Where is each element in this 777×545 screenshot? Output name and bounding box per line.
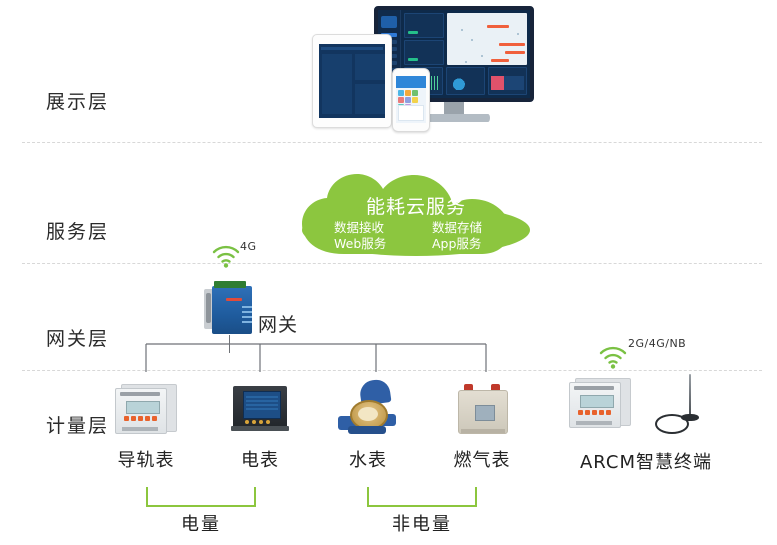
gateway-device-icon <box>204 281 256 335</box>
group-label-electric: 电量 <box>146 510 256 536</box>
architecture-diagram: 展示层 服务层 网关层 计量层 <box>0 0 777 545</box>
meter-panel-electric: 电表 <box>212 378 308 472</box>
cloud-service-item: Web服务 <box>334 236 386 252</box>
wifi-signal-icon <box>598 345 628 369</box>
water-meter-icon <box>338 380 398 438</box>
antenna-icon <box>655 374 715 430</box>
tablet-device-icon <box>312 34 392 128</box>
cloud-service-item: 数据接收 <box>334 220 386 236</box>
smartphone-device-icon <box>392 68 430 132</box>
terminal-label: ARCM智慧终端 <box>571 448 721 474</box>
cloud-service-item: 数据存储 <box>432 220 482 236</box>
terminal-label-wrap: ARCM智慧终端 <box>571 448 721 474</box>
meter-label: 电表 <box>212 446 308 472</box>
meter-din-rail: 导轨表 <box>98 378 194 472</box>
terminal-network-tag: 2G/4G/NB <box>628 337 686 350</box>
divider-service-gateway <box>22 263 762 264</box>
meter-connector-tree <box>120 332 520 374</box>
group-label-non-electric: 非电量 <box>367 510 477 536</box>
meter-label: 燃气表 <box>434 446 530 472</box>
wifi-signal-icon <box>211 244 241 268</box>
cloud-services-left: 数据接收 Web服务 <box>334 220 386 252</box>
group-bracket-non-electric <box>367 487 477 507</box>
group-bracket-electric <box>146 487 256 507</box>
meter-label: 导轨表 <box>98 446 194 472</box>
gateway-network-tag: 4G <box>240 240 257 253</box>
panel-electric-meter-icon <box>233 386 287 432</box>
meter-gas: 燃气表 <box>434 378 530 472</box>
layer-label-service: 服务层 <box>46 217 166 244</box>
layer-label-display: 展示层 <box>46 87 166 114</box>
meter-label: 水表 <box>320 446 416 472</box>
gas-meter-icon <box>458 384 506 434</box>
divider-display-service <box>22 142 762 143</box>
din-rail-meter-icon <box>115 384 177 434</box>
cloud-title: 能耗云服务 <box>298 192 534 219</box>
cloud-services-right: 数据存储 App服务 <box>432 220 482 252</box>
arcm-terminal-icon <box>569 374 719 434</box>
cloud-service-shape: 能耗云服务 数据接收 Web服务 数据存储 App服务 <box>298 170 534 258</box>
meter-water: 水表 <box>320 378 416 472</box>
cloud-service-item: App服务 <box>432 236 482 252</box>
